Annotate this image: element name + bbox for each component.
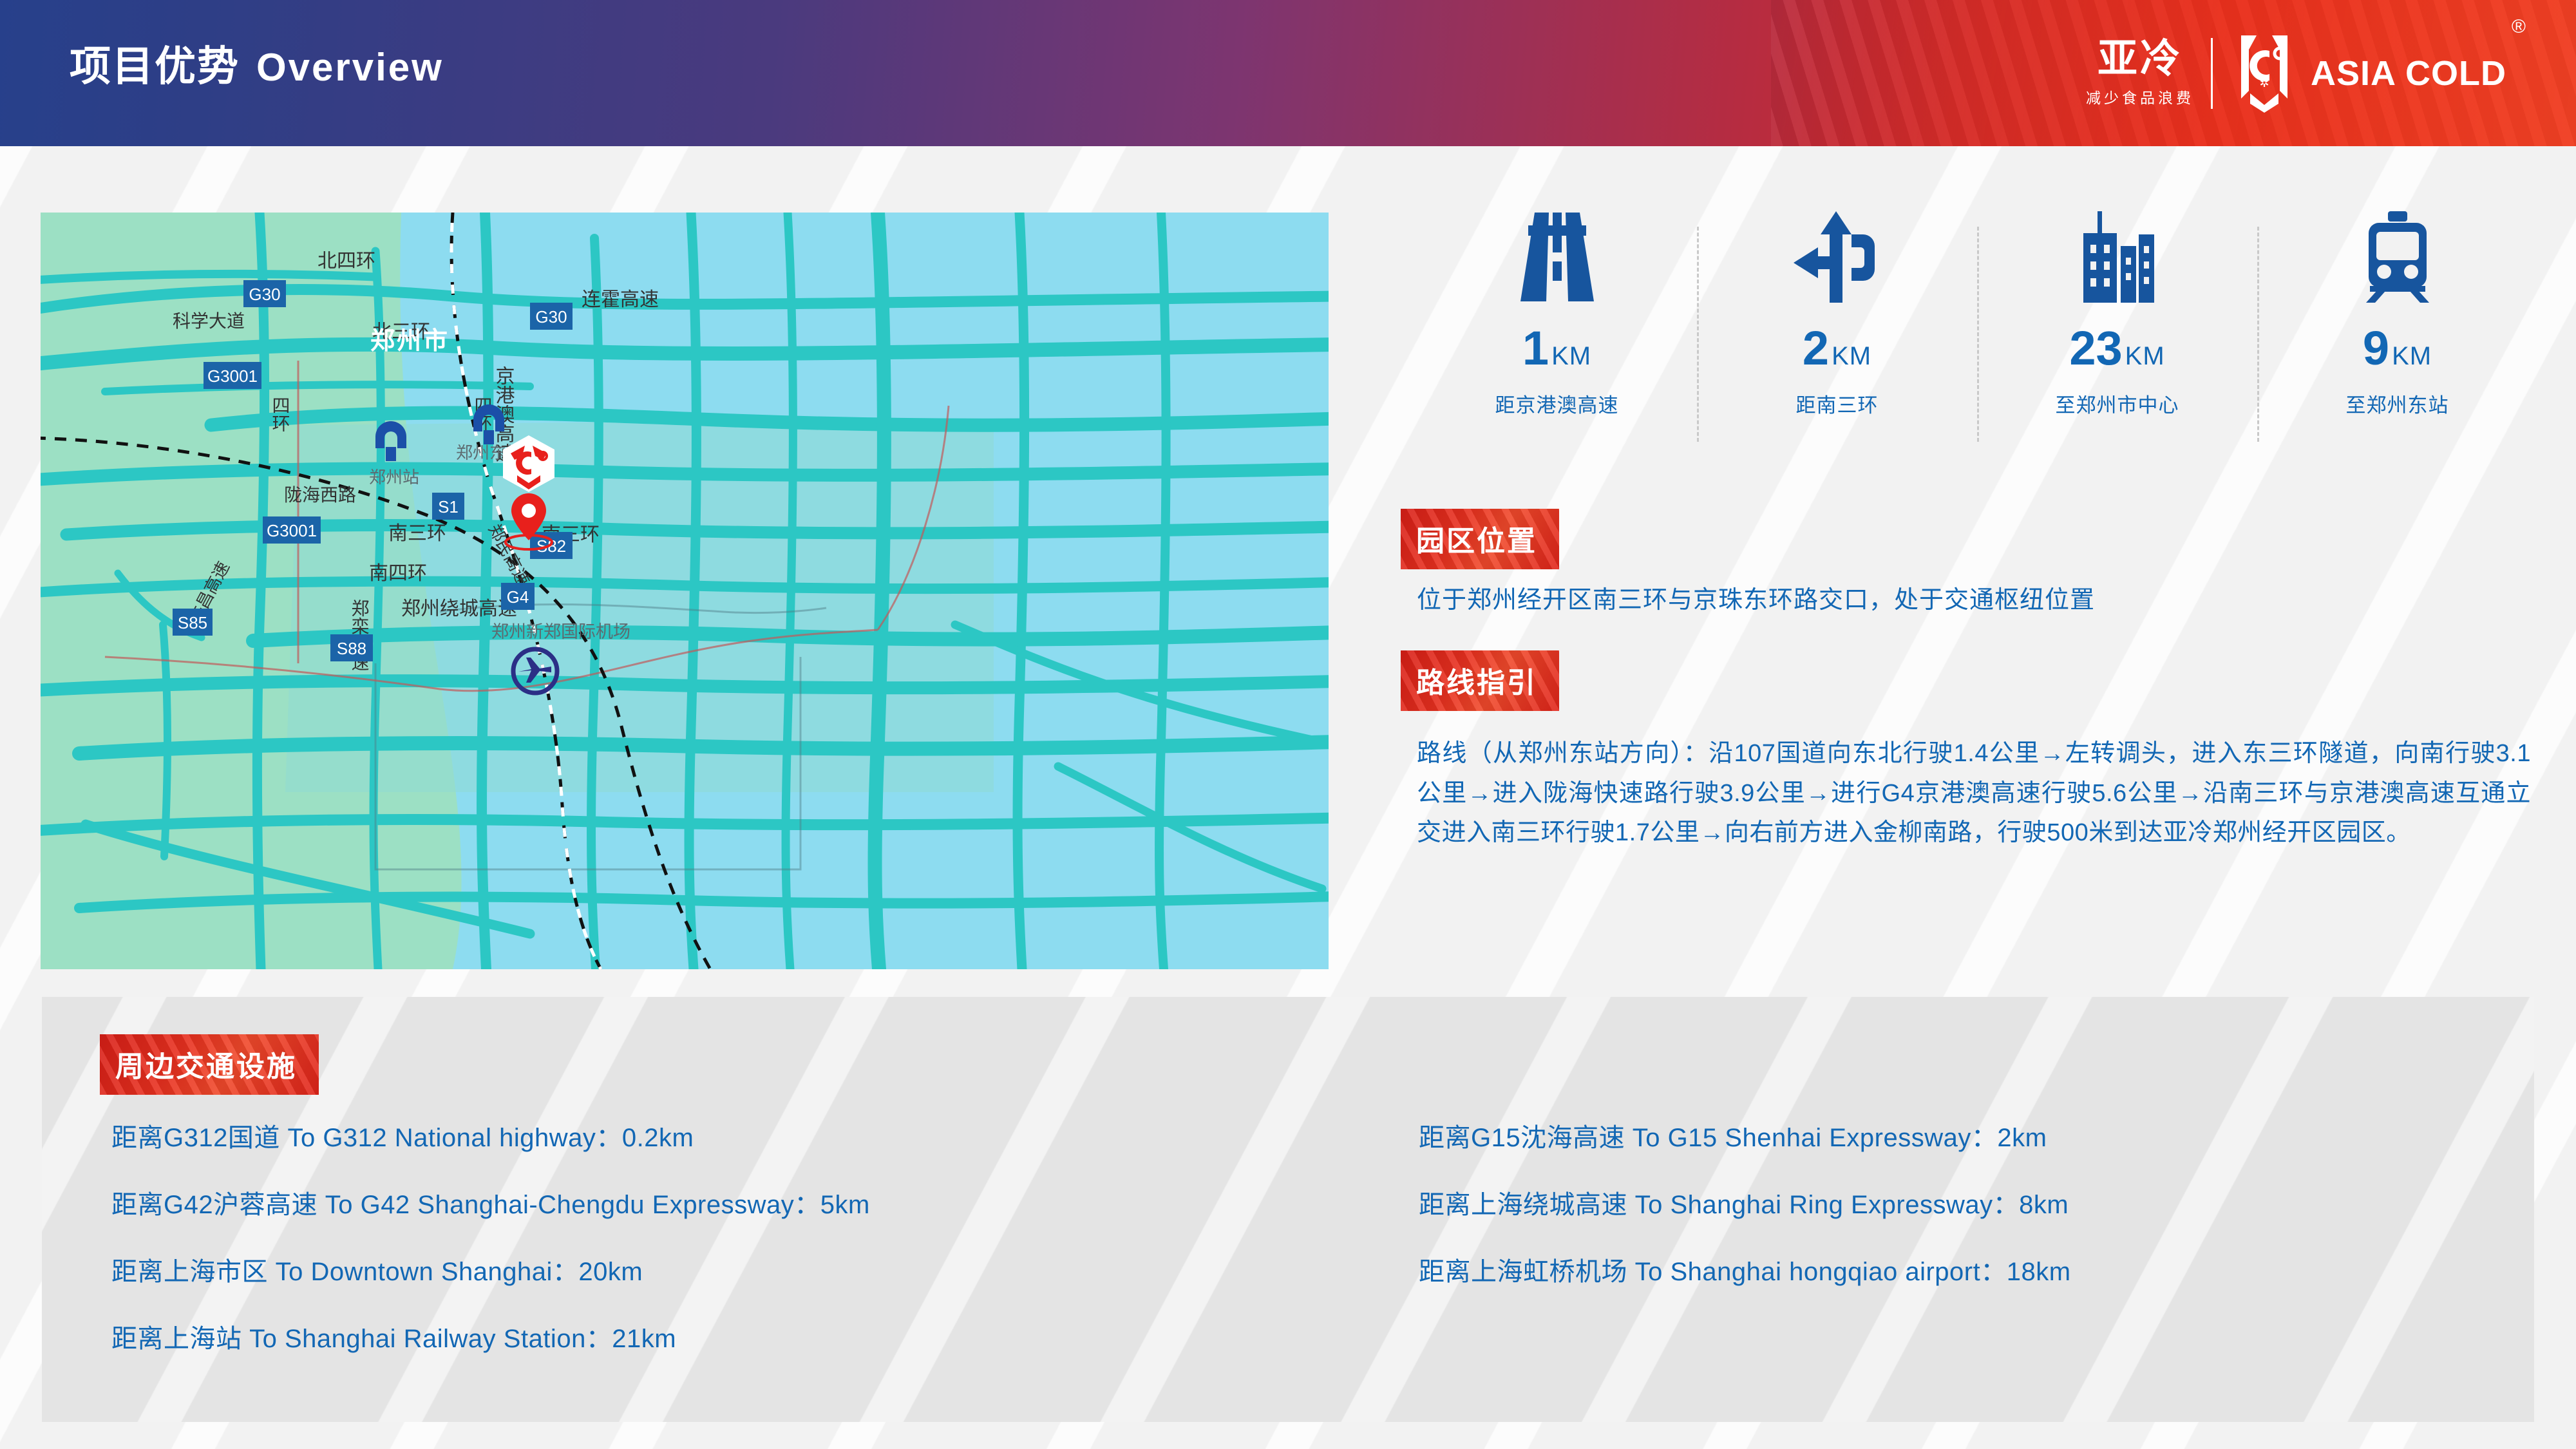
asia-cold-mark-icon: ✲ — [2230, 32, 2299, 116]
stat-value-group: 9 KM — [2363, 325, 2432, 372]
map-label-nansihuan: 南四环 — [369, 563, 427, 584]
stat-item-east-station: 9 KM 至郑州东站 — [2257, 213, 2537, 444]
facility-item: 距离上海虹桥机场 To Shanghai hongqiao airport：18… — [1407, 1259, 2438, 1326]
svg-text:S85: S85 — [178, 613, 207, 632]
map-label-kexuedadao: 科学大道 — [173, 311, 245, 331]
facility-item: 距离G42沪蓉高速 To G42 Shanghai-Chengdu Expres… — [100, 1192, 1407, 1259]
map-label-longhaixilu: 陇海西路 — [284, 485, 356, 505]
svg-text:✲: ✲ — [2259, 77, 2269, 90]
stat-label: 至郑州市中心 — [2056, 389, 2179, 418]
svg-text:G30: G30 — [535, 307, 567, 327]
road-junction-icon — [1792, 213, 1882, 303]
stat-unit: KM — [2125, 343, 2165, 369]
page-title-en: Overview — [256, 46, 444, 89]
route-guide-heading: 路线指引 — [1401, 650, 1559, 711]
stat-value: 2 — [1803, 325, 1829, 372]
svg-text:G3001: G3001 — [267, 521, 317, 540]
map-label-city: 郑州市 — [370, 328, 450, 355]
facilities-columns: 距离G312国道 To G312 National highway：0.2km … — [100, 1125, 2534, 1393]
map-label-sihuan-west: 四环 — [270, 396, 290, 432]
train-icon — [2356, 213, 2439, 303]
city-buildings-icon — [2069, 213, 2166, 303]
highway-icon — [1509, 213, 1605, 303]
map-label-zhengzhouzhan: 郑州站 — [369, 468, 419, 487]
route-guide-text: 路线（从郑州东站方向）：沿107国道向东北行驶1.4公里→左转调头，进入东三环隧… — [1417, 734, 2531, 853]
stat-label: 距京港澳高速 — [1495, 389, 1619, 418]
facilities-left-column: 距离G312国道 To G312 National highway：0.2km … — [100, 1125, 1407, 1393]
location-map[interactable]: 北四环 北三环 科学大道 四环 四环 连霍高速 陇海西路 南三环 南三环 南四环… — [41, 213, 1329, 969]
route-guide-section: 路线指引 — [1401, 650, 1559, 714]
map-shield-g4: G4 — [501, 583, 535, 610]
map-label-lianhuo: 连霍高速 — [582, 289, 659, 310]
facility-item: 距离上海市区 To Downtown Shanghai：20km — [100, 1259, 1407, 1326]
logo-brand-cn: 亚冷 — [2098, 39, 2183, 79]
logo-divider — [2211, 38, 2213, 109]
stat-value: 23 — [2069, 325, 2122, 372]
map-shield-g3001-south: G3001 — [263, 516, 321, 544]
map-shield-s1: S1 — [432, 493, 464, 520]
facility-item: 距离G15沈海高速 To G15 Shenhai Expressway：2km — [1407, 1125, 2438, 1192]
svg-text:S1: S1 — [438, 497, 459, 516]
svg-text:S88: S88 — [337, 639, 366, 658]
page-title-cn: 项目优势 — [70, 43, 240, 90]
facility-item: 距离上海站 To Shanghai Railway Station：21km — [100, 1326, 1407, 1393]
map-label-beisihuan: 北四环 — [317, 251, 375, 272]
stat-unit: KM — [1551, 343, 1591, 369]
map-shield-g3001-north: G3001 — [204, 362, 261, 389]
stat-item-ring-road: 2 KM 距南三环 — [1697, 213, 1977, 444]
map-shield-g30-east: G30 — [530, 303, 573, 330]
map-label-nansanhuan-w: 南三环 — [388, 523, 446, 544]
registered-trademark-icon: ® — [2512, 16, 2526, 38]
park-location-section: 园区位置 — [1401, 509, 1559, 573]
map-shield-s88: S88 — [330, 634, 373, 661]
svg-text:G3001: G3001 — [207, 366, 258, 386]
logo-tagline-cn: 减少食品浪费 — [2086, 86, 2194, 108]
facility-item: 距离上海绕城高速 To Shanghai Ring Expressway：8km — [1407, 1192, 2438, 1259]
logo-chinese: 亚冷 减少食品浪费 — [2086, 39, 2194, 108]
stat-label: 距南三环 — [1796, 389, 1879, 418]
park-location-heading: 园区位置 — [1401, 509, 1559, 569]
facilities-right-column: 距离G15沈海高速 To G15 Shenhai Expressway：2km … — [1407, 1125, 2438, 1393]
facility-item: 距离G312国道 To G312 National highway：0.2km — [100, 1125, 1407, 1192]
page-title: 项目优势Overview — [70, 33, 444, 93]
stat-value: 1 — [1522, 325, 1549, 372]
logo-brand-en: ASIA COLD — [2311, 53, 2506, 93]
svg-text:G30: G30 — [249, 285, 280, 304]
park-location-text: 位于郑州经开区南三环与京珠东环路交口，处于交通枢纽位置 — [1417, 580, 2524, 615]
stat-unit: KM — [1832, 343, 1871, 369]
key-distance-stats: 1 KM 距京港澳高速 2 KM 距南三环 — [1417, 213, 2537, 444]
nearby-facilities-panel: 周边交通设施 距离G312国道 To G312 National highway… — [42, 997, 2534, 1422]
stat-value-group: 23 KM — [2069, 325, 2164, 372]
stat-value-group: 1 KM — [1522, 325, 1591, 372]
map-shield-g30-west: G30 — [243, 280, 286, 307]
stat-item-downtown: 23 KM 至郑州市中心 — [1977, 213, 2257, 444]
map-shield-s85: S85 — [173, 609, 213, 636]
stat-unit: KM — [2392, 343, 2432, 369]
page-header: 项目优势Overview 亚冷 减少食品浪费 ✲ ASIA COLD ® — [0, 0, 2576, 146]
stat-label: 至郑州东站 — [2346, 389, 2449, 418]
nearby-facilities-heading: 周边交通设施 — [100, 1034, 319, 1095]
stat-value: 9 — [2363, 325, 2389, 372]
svg-text:G4: G4 — [507, 587, 529, 607]
company-logo: 亚冷 减少食品浪费 ✲ ASIA COLD ® — [2086, 31, 2506, 116]
stat-value-group: 2 KM — [1803, 325, 1871, 372]
map-label-airport: 郑州新郑国际机场 — [491, 622, 630, 641]
stat-item-expressway: 1 KM 距京港澳高速 — [1417, 213, 1697, 444]
logo-english-group: ✲ ASIA COLD ® — [2230, 32, 2506, 116]
map-label-raocheng: 郑州绕城高速 — [401, 598, 517, 620]
